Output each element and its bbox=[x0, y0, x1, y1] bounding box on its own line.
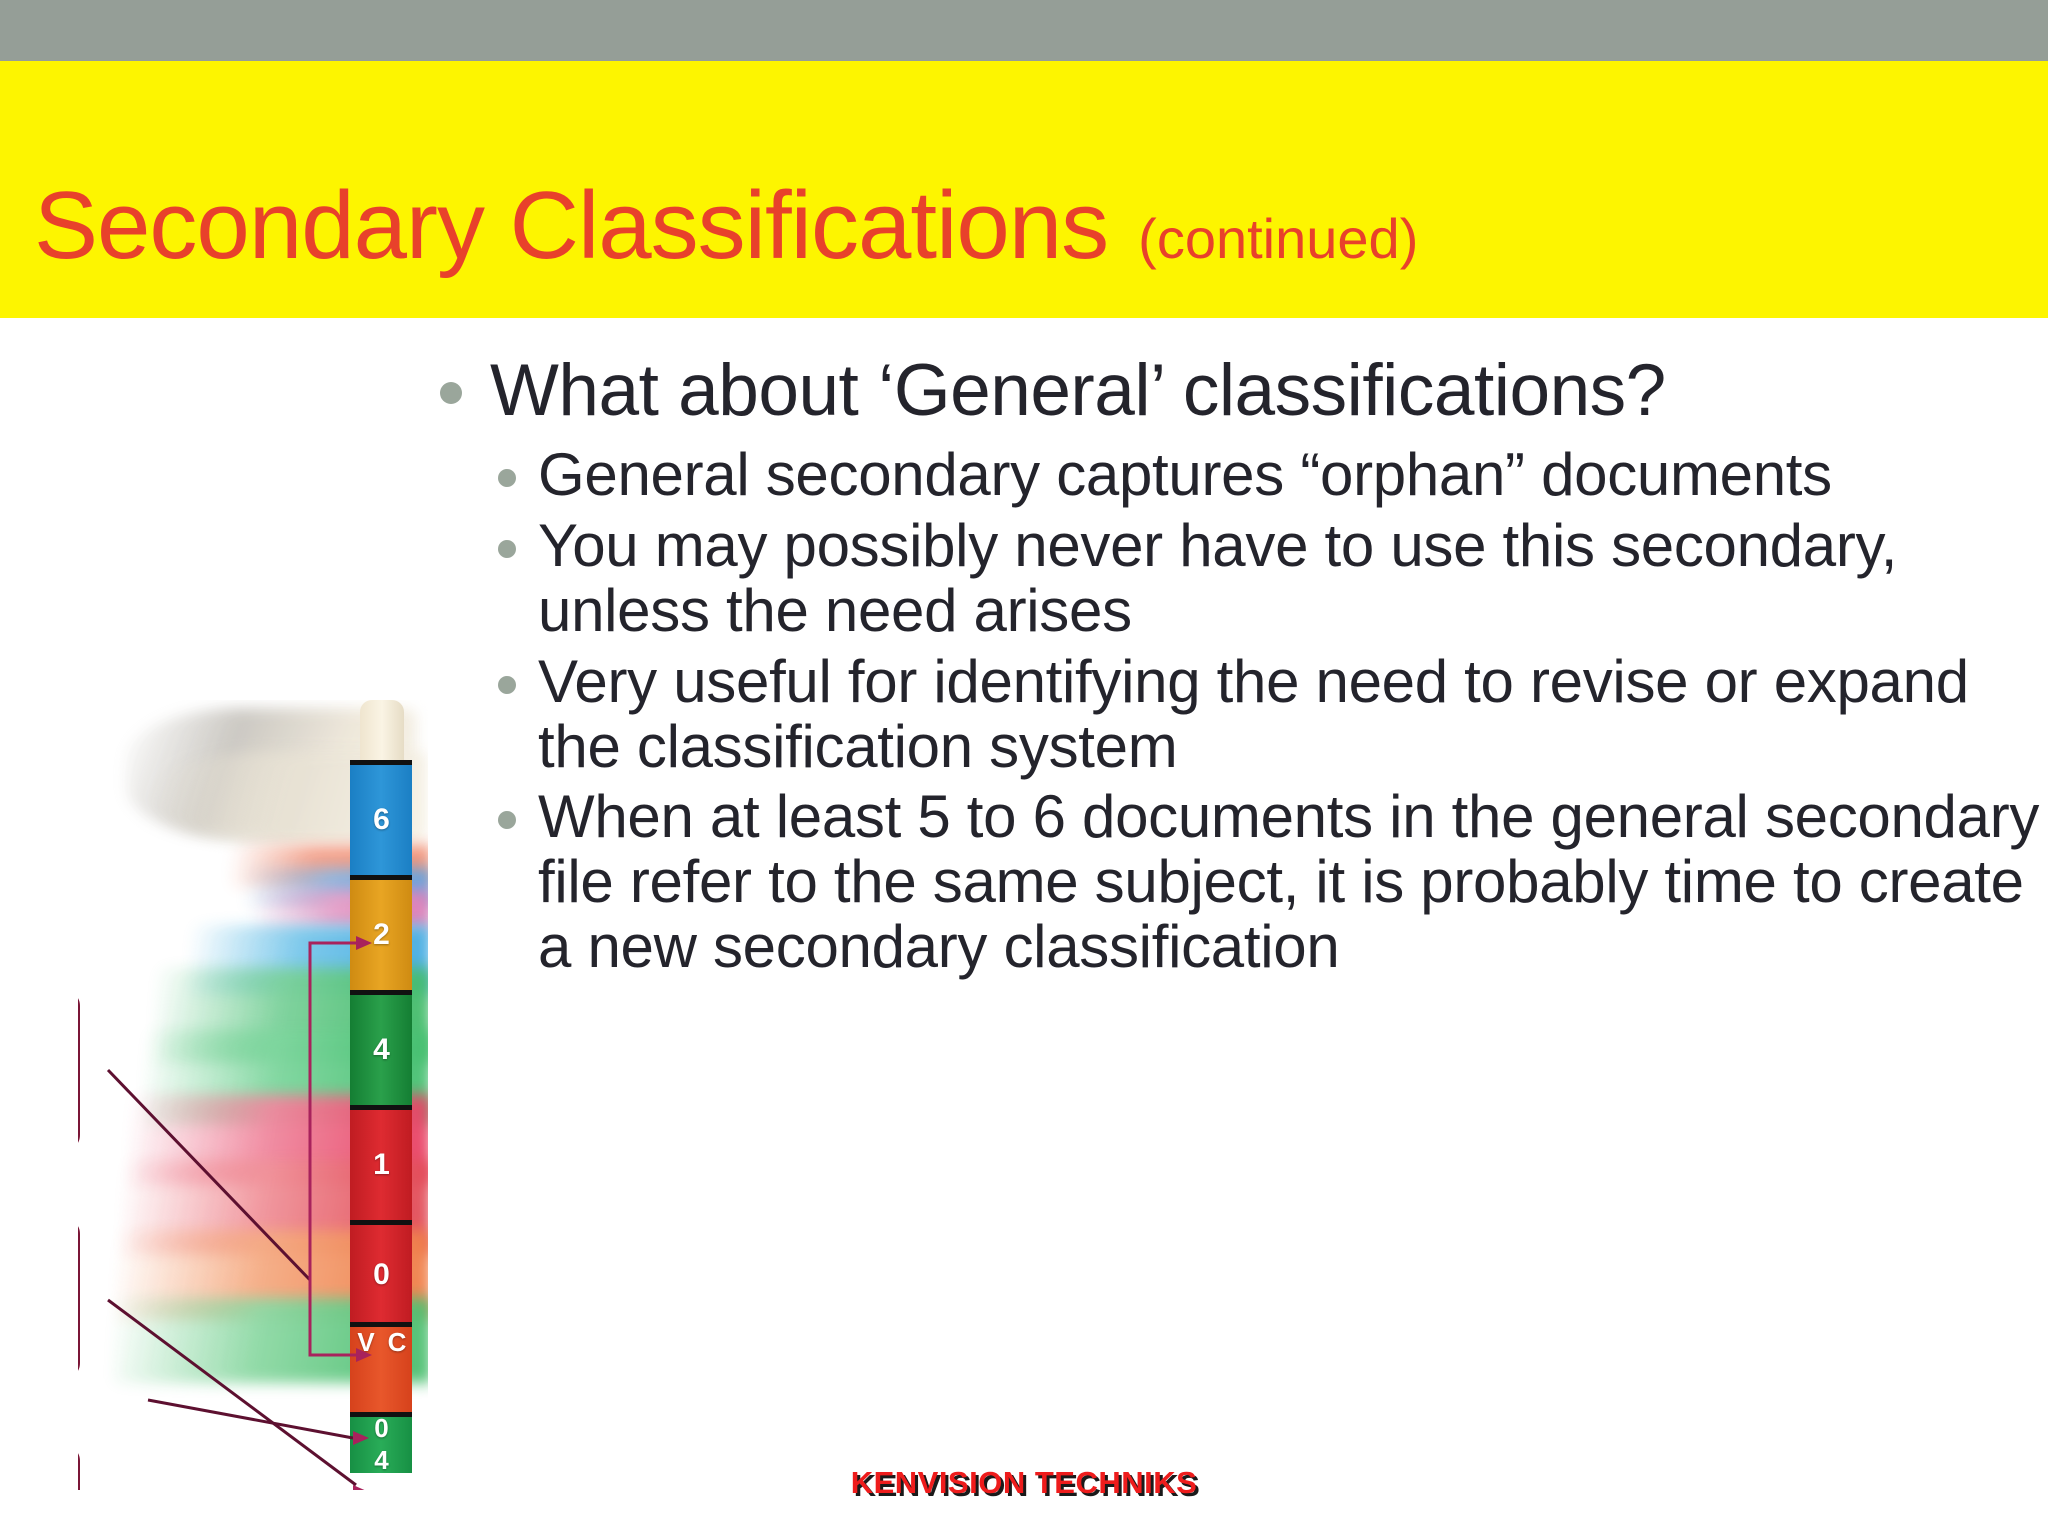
page-title-main: Secondary Classifications bbox=[34, 178, 1108, 274]
file-folder-illustration: 6 2 4 1 0 C V 04 Employee Number CV=Resu… bbox=[78, 700, 428, 1490]
callout-employee-number: Employee Number bbox=[78, 990, 80, 1151]
bullet-level2-text: General secondary captures “orphan” docu… bbox=[538, 443, 1832, 508]
folder-tab-2: 2 bbox=[350, 875, 412, 995]
folder-label-spine: 6 2 4 1 0 C V 04 bbox=[350, 700, 412, 1460]
bullet-level2: Very useful for identifying the need to … bbox=[498, 650, 2048, 780]
bullet-dot-icon bbox=[498, 676, 516, 694]
bullet-level1: What about ‘General’ classifications? bbox=[440, 352, 2048, 429]
arrow-head-icon bbox=[353, 1431, 369, 1445]
bullet-level2-group: General secondary captures “orphan” docu… bbox=[498, 443, 2048, 979]
leader-line-cv-lower bbox=[148, 1400, 353, 1438]
bullet-level2-text: You may possibly never have to use this … bbox=[538, 514, 2048, 644]
callout-cv-resume: CV=Resume bbox=[78, 1218, 80, 1379]
bullet-dot-icon bbox=[498, 540, 516, 558]
folder-spine-cap bbox=[360, 700, 404, 760]
folder-tab-1: 1 bbox=[350, 1105, 412, 1225]
bullet-dot-icon bbox=[498, 811, 516, 829]
folder-tab-4: 4 bbox=[350, 990, 412, 1110]
bullet-level2: General secondary captures “orphan” docu… bbox=[498, 443, 2048, 508]
bullet-level2-text: When at least 5 to 6 documents in the ge… bbox=[538, 785, 2048, 979]
bullet-level2: You may possibly never have to use this … bbox=[498, 514, 2048, 644]
bullet-level1-text: What about ‘General’ classifications? bbox=[490, 352, 1666, 429]
bullet-dot-icon bbox=[498, 469, 516, 487]
top-accent-bar bbox=[0, 0, 2048, 61]
folder-tab-6: 6 bbox=[350, 760, 412, 880]
bullet-level2-text: Very useful for identifying the need to … bbox=[538, 650, 2048, 780]
bullet-level2: When at least 5 to 6 documents in the ge… bbox=[498, 785, 2048, 979]
slide-body: What about ‘General’ classifications? Ge… bbox=[440, 352, 2048, 986]
page-title: Secondary Classifications (continued) bbox=[34, 178, 1418, 274]
bullet-dot-icon bbox=[440, 382, 462, 404]
footer-branding: KENVISION TECHNIKS bbox=[0, 1465, 2048, 1501]
folder-tab-0: 0 bbox=[350, 1220, 412, 1330]
page-title-continued: (continued) bbox=[1138, 211, 1418, 267]
